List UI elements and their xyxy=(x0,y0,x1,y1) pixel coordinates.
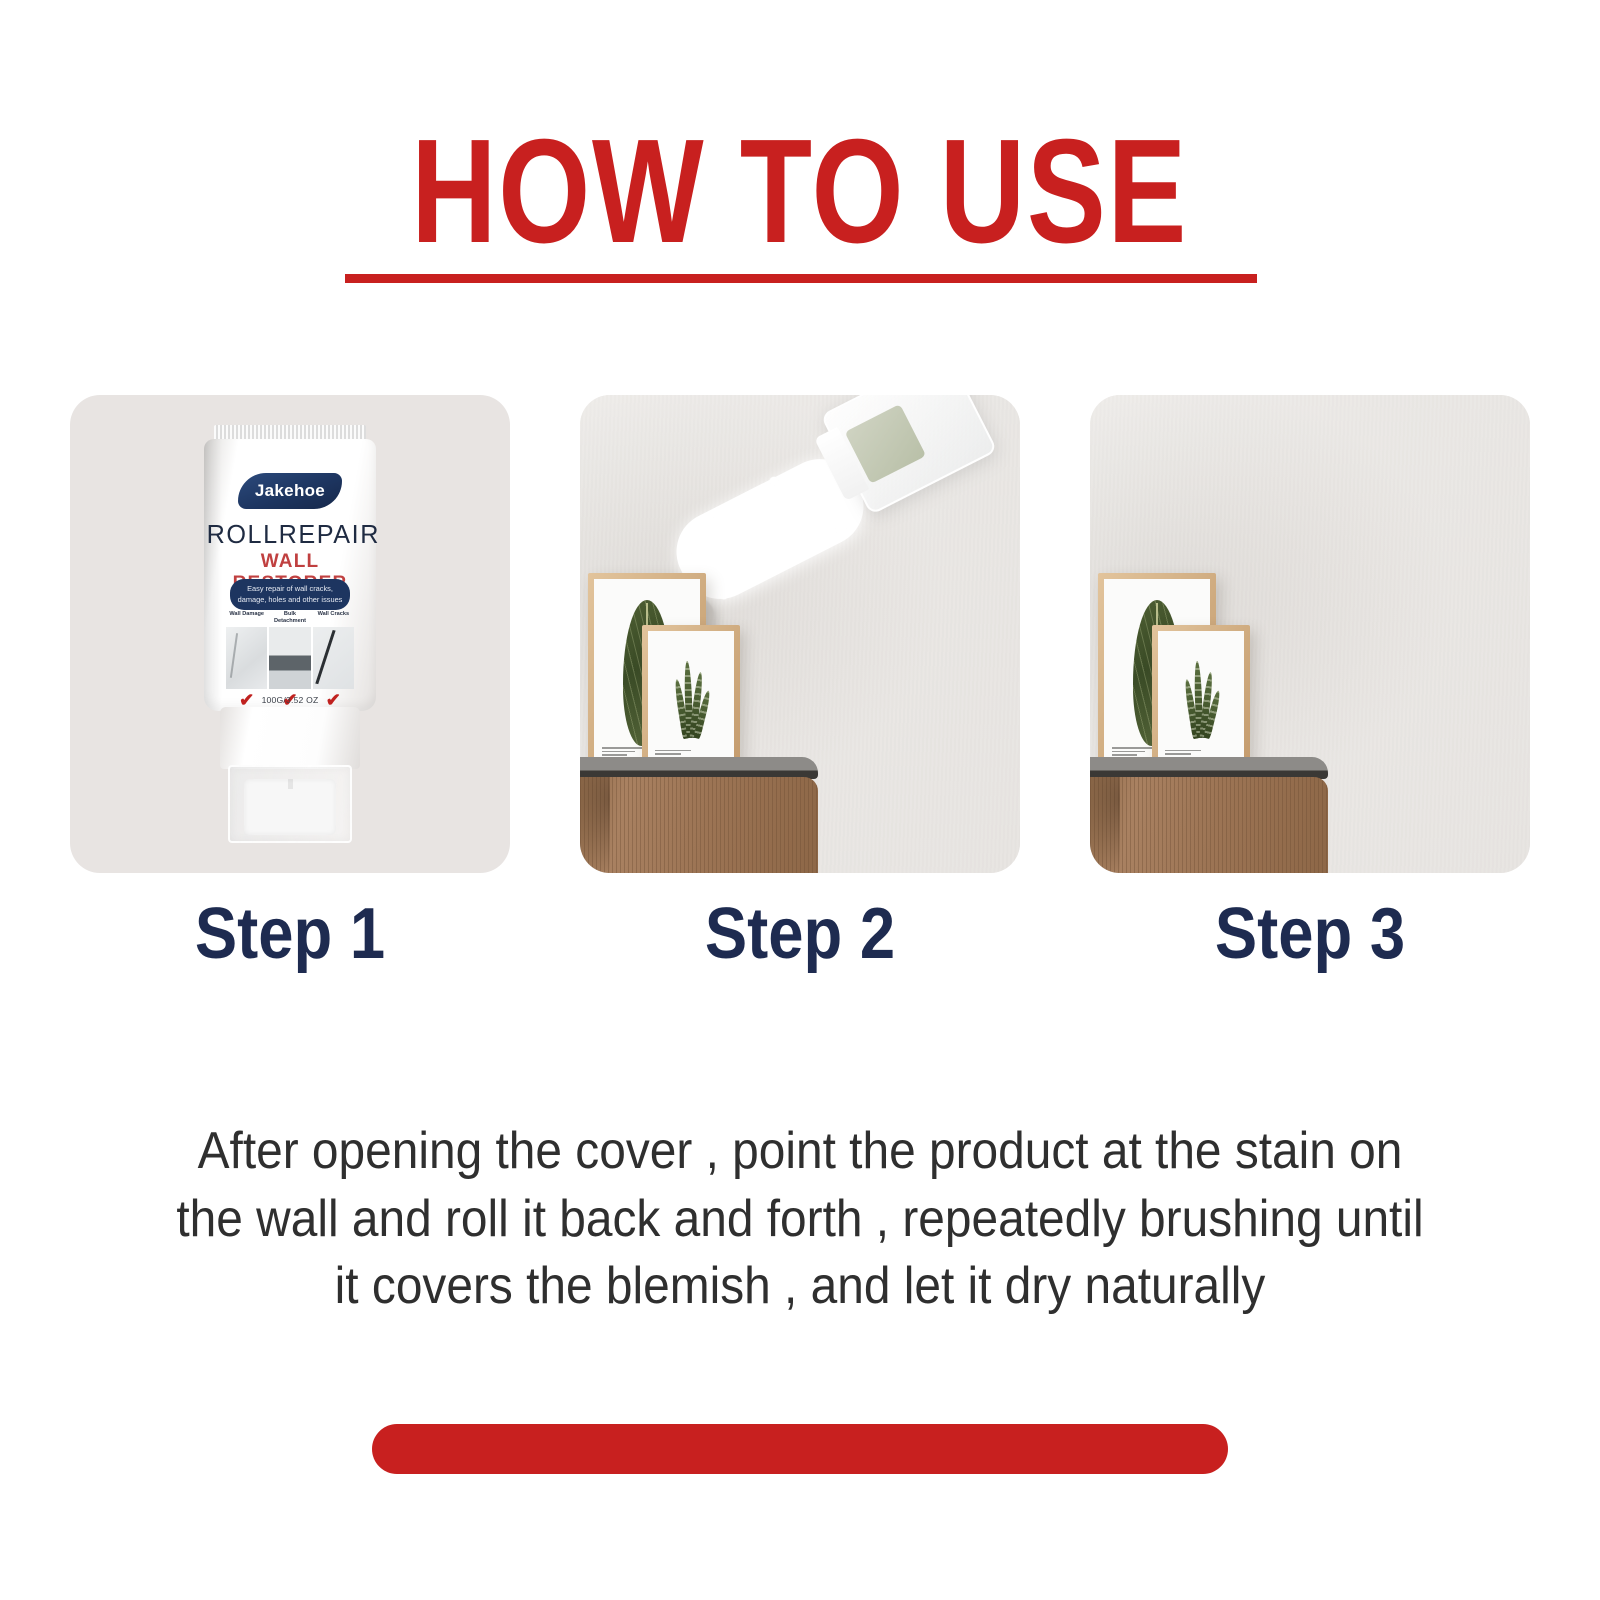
instructions-paragraph: After opening the cover , point the prod… xyxy=(165,1118,1435,1321)
framed-plant-print xyxy=(642,625,740,773)
step-2-label: Step 2 xyxy=(606,898,993,990)
instructions-line-3: it covers the blemish , and let it dry n… xyxy=(165,1253,1435,1321)
footer-accent-bar xyxy=(372,1424,1228,1474)
step-1-image-card: Jakehoe ROLLREPAIR WALL RESTORER Easy re… xyxy=(70,395,510,873)
product-name: ROLLREPAIR xyxy=(207,519,374,550)
wall-cracks-photo xyxy=(313,627,354,689)
product-net-weight: 100G/3.52 OZ xyxy=(204,695,376,705)
step-3-label: Step 3 xyxy=(1116,898,1503,990)
tube-neck xyxy=(220,707,360,769)
step-3-image-card xyxy=(1090,395,1530,873)
sideboard-stone-top xyxy=(1090,757,1328,779)
use-case-label: Bulk Detachment xyxy=(269,611,310,625)
step-2-image-card xyxy=(580,395,1020,873)
framed-plant-print xyxy=(1152,625,1250,773)
sideboard-stone-top xyxy=(580,757,818,779)
page-header: HOW TO USE xyxy=(0,118,1600,266)
use-case-panels: Wall Damage ✔ Bulk Detachment ✔ Wall Cra… xyxy=(226,627,354,689)
roller-sponge-pad xyxy=(244,779,336,835)
steps-image-row: Jakehoe ROLLREPAIR WALL RESTORER Easy re… xyxy=(70,395,1530,873)
use-case-label: Wall Damage xyxy=(226,611,267,618)
title-underline-rule xyxy=(345,274,1257,283)
use-case-panel: Wall Damage ✔ xyxy=(226,627,267,689)
bulk-detachment-photo xyxy=(269,627,310,689)
frame-mat xyxy=(648,631,734,767)
product-tagline: Easy repair of wall cracks, damage, hole… xyxy=(230,579,350,610)
use-case-panel: Wall Cracks ✔ xyxy=(313,627,354,689)
room-scene xyxy=(1090,395,1530,873)
wooden-sideboard xyxy=(580,757,818,873)
snake-plant-artwork xyxy=(671,660,711,739)
sideboard-wood-body xyxy=(580,777,818,873)
brand-logo-badge: Jakehoe xyxy=(238,473,342,509)
instructions-line-2: the wall and roll it back and forth , re… xyxy=(165,1186,1435,1254)
step-labels-row: Step 1 Step 2 Step 3 xyxy=(70,898,1530,990)
use-case-label: Wall Cracks xyxy=(313,611,354,618)
instructions-line-1: After opening the cover , point the prod… xyxy=(165,1118,1435,1186)
step-1-label: Step 1 xyxy=(96,898,483,990)
snake-plant-artwork xyxy=(1181,660,1221,739)
product-tube: Jakehoe ROLLREPAIR WALL RESTORER Easy re… xyxy=(198,425,382,845)
tube-body: Jakehoe ROLLREPAIR WALL RESTORER Easy re… xyxy=(204,439,376,711)
sideboard-wood-body xyxy=(1090,777,1328,873)
frame-mat xyxy=(1158,631,1244,767)
wall-damage-photo xyxy=(226,627,267,689)
wooden-sideboard xyxy=(1090,757,1328,873)
tube-applicator-cap xyxy=(228,765,352,843)
room-scene xyxy=(580,395,1020,873)
use-case-panel: Bulk Detachment ✔ xyxy=(269,627,310,689)
page-title: HOW TO USE xyxy=(412,118,1189,266)
brand-name: Jakehoe xyxy=(255,481,325,501)
